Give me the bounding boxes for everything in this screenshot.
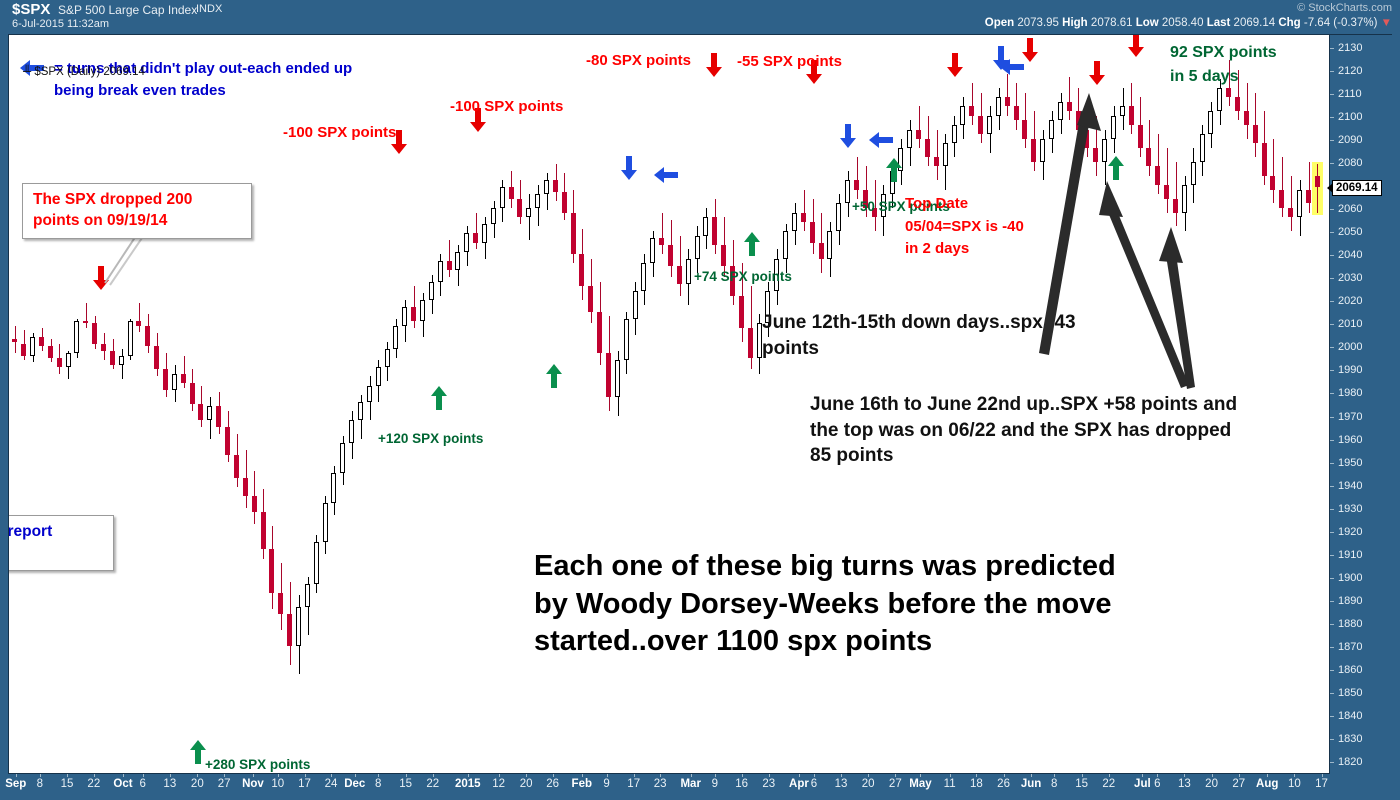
high-value: 2078.61 [1091,17,1133,29]
date-tick-mark [1322,774,1323,777]
price-tick-mark [1330,94,1334,95]
last-value: 2069.14 [1234,17,1276,29]
callout-report-released-line: ased [8,543,103,564]
callout-report-released-line: 9/14 report [8,522,103,543]
high-label: High [1062,17,1088,29]
date-tick-label: 8 [375,778,381,790]
price-tick-label: 1950 [1338,457,1362,469]
price-tick-mark [1330,232,1334,233]
date-tick-mark [67,774,68,777]
date-tick-mark [895,774,896,777]
date-tick-label: 10 [1288,778,1301,790]
price-tick-label: 2110 [1338,88,1362,100]
price-tick-label: 1930 [1338,503,1362,515]
date-tick-label: 8 [37,778,43,790]
date-tick-mark [1004,774,1005,777]
price-tick-label: 2100 [1338,111,1362,123]
callout-spx-dropped-200-line: The SPX dropped 200 [33,190,241,211]
price-tick-label: 2000 [1338,341,1362,353]
date-tick-mark [607,774,608,777]
date-tick-mark [742,774,743,777]
date-tick-mark [305,774,306,777]
date-tick-label: 17 [627,778,640,790]
date-tick-label: Jun [1021,778,1041,790]
date-tick-mark [660,774,661,777]
price-tick-mark [1330,48,1334,49]
date-tick-label: Jul [1134,778,1151,790]
date-tick-mark [143,774,144,777]
date-tick-mark [769,774,770,777]
date-tick-label: 26 [997,778,1010,790]
price-tick-mark [1330,117,1334,118]
price-tick-mark [1330,71,1334,72]
chg-direction-icon: ▼ [1381,17,1392,29]
date-tick-mark [868,774,869,777]
price-tick-label: 1820 [1338,756,1362,768]
price-tick-mark [1330,624,1334,625]
last-price-badge: 2069.14 [1332,180,1382,196]
price-plot-area[interactable]: ╨ $SPX (Daily) 2069.14 = turns that didn… [8,34,1330,774]
price-tick-mark [1330,716,1334,717]
price-tick-mark [1330,209,1334,210]
date-tick-mark [920,774,921,777]
date-tick-mark [123,774,124,777]
price-tick-label: 1920 [1338,526,1362,538]
price-tick-label: 1900 [1338,572,1362,584]
price-tick-label: 1880 [1338,618,1362,630]
symbol-exchange: INDX [196,3,222,15]
date-tick-label: Mar [680,778,700,790]
date-tick-mark [253,774,254,777]
date-tick-mark [799,774,800,777]
date-tick-label: 13 [163,778,176,790]
date-tick-label: 9 [712,778,718,790]
date-tick-mark [1184,774,1185,777]
date-tick-mark [1294,774,1295,777]
price-tick-label: 1960 [1338,434,1362,446]
symbol-ticker: $SPX [12,1,50,18]
date-tick-label: 27 [1232,778,1245,790]
price-tick-label: 1910 [1338,549,1362,561]
price-tick-mark [1330,762,1334,763]
date-tick-mark [526,774,527,777]
date-tick-label: 13 [835,778,848,790]
date-tick-label: 8 [1051,778,1057,790]
callout-report-released: 9/14 reportased [8,515,114,571]
date-tick-label: 24 [325,778,338,790]
stockcharts-logo: © StockCharts.com [1297,2,1392,14]
price-tick-label: 2130 [1338,42,1362,54]
date-tick-label: 15 [1075,778,1088,790]
price-tick-mark [1330,509,1334,510]
last-label: Last [1207,17,1231,29]
date-tick-mark [814,774,815,777]
price-tick-label: 1860 [1338,664,1362,676]
date-tick-mark [1031,774,1032,777]
price-tick-mark [1330,324,1334,325]
price-tick-mark [1330,301,1334,302]
date-tick-label: Nov [242,778,264,790]
chart-header: $SPX S&P 500 Large Cap Index INDX 6-Jul-… [0,0,1400,34]
date-tick-mark [1109,774,1110,777]
price-tick-label: 2090 [1338,134,1362,146]
date-tick-mark [433,774,434,777]
date-tick-mark [406,774,407,777]
price-tick-mark [1330,393,1334,394]
date-tick-label: 23 [654,778,667,790]
date-tick-label: 6 [139,778,145,790]
date-tick-mark [170,774,171,777]
date-tick-mark [1082,774,1083,777]
price-tick-mark [1330,370,1334,371]
price-tick-label: 1850 [1338,687,1362,699]
date-tick-mark [582,774,583,777]
symbol-name: S&P 500 Large Cap Index [58,3,197,17]
date-tick-mark [378,774,379,777]
date-tick-label: 15 [399,778,412,790]
price-tick-mark [1330,739,1334,740]
date-tick-label: Feb [572,778,592,790]
date-tick-mark [94,774,95,777]
price-tick-label: 1830 [1338,733,1362,745]
price-tick-label: 2030 [1338,272,1362,284]
callout-spx-dropped-200: The SPX dropped 200points on 09/19/14 [22,183,252,239]
price-tick-mark [1330,486,1334,487]
price-tick-mark [1330,670,1334,671]
date-tick-label: 22 [87,778,100,790]
date-tick-mark [40,774,41,777]
callout-spx-dropped-200-line: points on 09/19/14 [33,211,241,232]
price-tick-label: 2020 [1338,295,1362,307]
date-tick-label: Aug [1256,778,1278,790]
price-tick-label: 2060 [1338,203,1362,215]
date-tick-label: 20 [520,778,533,790]
date-tick-mark [331,774,332,777]
date-tick-mark [950,774,951,777]
price-tick-label: 1870 [1338,641,1362,653]
chart-timestamp: 6-Jul-2015 11:32am [12,18,109,30]
date-tick-mark [224,774,225,777]
date-tick-mark [1212,774,1213,777]
date-tick-label: 6 [811,778,817,790]
date-tick-label: 12 [492,778,505,790]
date-tick-label: 20 [862,778,875,790]
date-tick-mark [468,774,469,777]
price-tick-mark [1330,693,1334,694]
date-tick-label: 23 [762,778,775,790]
date-tick-label: 15 [61,778,74,790]
date-tick-mark [1157,774,1158,777]
price-tick-mark [1330,647,1334,648]
open-value: 2073.95 [1017,17,1059,29]
series-legend: ╨ $SPX (Daily) 2069.14 [23,66,145,78]
stockcharts-screenshot: $SPX S&P 500 Large Cap Index INDX 6-Jul-… [0,0,1400,800]
date-tick-mark [1054,774,1055,777]
date-tick-label: 17 [1315,778,1328,790]
date-tick-label: 26 [546,778,559,790]
date-tick-mark [16,774,17,777]
date-tick-mark [976,774,977,777]
date-tick-label: 2015 [455,778,481,790]
price-tick-label: 1970 [1338,411,1362,423]
date-tick-label: 22 [426,778,439,790]
price-tick-mark [1330,347,1334,348]
price-tick-label: 1840 [1338,710,1362,722]
price-tick-mark [1330,601,1334,602]
chg-label: Chg [1278,17,1300,29]
price-tick-label: 1990 [1338,364,1362,376]
price-tick-label: 2040 [1338,249,1362,261]
june1622-pointer-arrows [9,35,1330,774]
date-tick-label: May [909,778,931,790]
price-tick-mark [1330,255,1334,256]
date-tick-label: 17 [298,778,311,790]
date-tick-mark [278,774,279,777]
date-tick-label: 9 [603,778,609,790]
price-tick-label: 1980 [1338,387,1362,399]
date-tick-label: Dec [344,778,365,790]
price-tick-mark [1330,278,1334,279]
date-tick-label: 13 [1178,778,1191,790]
date-tick-label: Oct [113,778,132,790]
date-tick-mark [197,774,198,777]
low-value: 2058.40 [1162,17,1204,29]
date-tick-label: 22 [1102,778,1115,790]
price-tick-mark [1330,532,1334,533]
price-tick-label: 1940 [1338,480,1362,492]
date-tick-mark [1142,774,1143,777]
price-tick-mark [1330,417,1334,418]
date-tick-label: 11 [944,778,956,790]
date-tick-label: 6 [1154,778,1160,790]
price-tick-mark [1330,140,1334,141]
price-tick-mark [1330,555,1334,556]
date-tick-label: 20 [1205,778,1218,790]
price-tick-mark [1330,440,1334,441]
quote-bar: Open 2073.95 High 2078.61 Low 2058.40 La… [985,17,1392,29]
date-tick-label: 16 [735,778,748,790]
date-tick-label: 10 [271,778,284,790]
date-tick-mark [553,774,554,777]
price-tick-label: 2050 [1338,226,1362,238]
low-label: Low [1136,17,1159,29]
date-tick-mark [355,774,356,777]
open-label: Open [985,17,1014,29]
price-axis: 2130212021102100209020802060205020402030… [1330,34,1392,776]
date-tick-mark [634,774,635,777]
price-tick-mark [1330,578,1334,579]
price-tick-mark [1330,463,1334,464]
date-tick-label: 18 [970,778,983,790]
date-tick-mark [1267,774,1268,777]
price-tick-label: 2080 [1338,157,1362,169]
chg-value: -7.64 (-0.37%) [1304,17,1378,29]
date-tick-mark [691,774,692,777]
price-tick-label: 2120 [1338,65,1362,77]
price-tick-mark [1330,163,1334,164]
date-tick-mark [841,774,842,777]
price-tick-label: 2010 [1338,318,1362,330]
date-tick-label: Apr [789,778,809,790]
date-axis: Sep81522Oct6132027Nov101724Dec8152220151… [0,774,1400,800]
date-tick-label: Sep [5,778,26,790]
date-tick-mark [499,774,500,777]
date-tick-mark [1239,774,1240,777]
date-tick-label: 20 [191,778,204,790]
date-tick-mark [715,774,716,777]
date-tick-label: 27 [889,778,902,790]
price-tick-label: 1890 [1338,595,1362,607]
date-tick-label: 27 [218,778,231,790]
